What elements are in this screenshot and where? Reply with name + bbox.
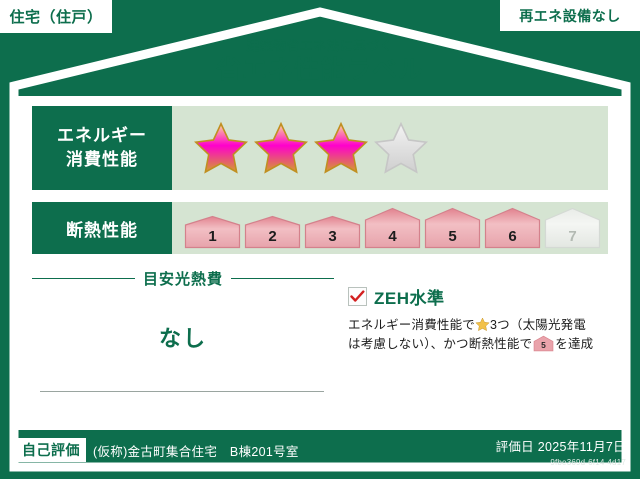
inline-house-icon: 5 [533, 335, 554, 352]
housing-type-badge: 住宅（住戸） [0, 0, 112, 33]
energy-label-line1: エネルギー [57, 124, 147, 148]
energy-performance-label: 住宅（住戸） 再エネ設備なし 建築物省エネ法に基づく 省エネ性能ラベル エネルギ… [0, 0, 640, 479]
label-card: エネルギー 消費性能 断熱性能 1234567 目安光熱費 [18, 96, 622, 430]
house-step-label: 7 [568, 228, 576, 245]
star-rating [192, 120, 430, 176]
cost-rule-right [231, 278, 334, 279]
house-step-label: 4 [388, 228, 397, 245]
utility-cost-value: なし [32, 321, 334, 353]
energy-performance-row: エネルギー 消費性能 [32, 106, 608, 190]
renewable-equipment-badge-label: 再エネ設備なし [519, 6, 621, 26]
title-main: 省エネ性能ラベル [0, 55, 640, 85]
insulation-performance-value: 1234567 [172, 202, 608, 254]
star-empty-icon [372, 120, 430, 176]
energy-performance-value [172, 106, 608, 190]
inline-house-value: 5 [541, 340, 546, 350]
check-icon [350, 290, 365, 303]
energy-performance-label: エネルギー 消費性能 [32, 106, 172, 190]
insulation-performance-row: 断熱性能 1234567 [32, 202, 608, 254]
zeh-checkbox[interactable] [348, 287, 367, 306]
renewable-equipment-badge: 再エネ設備なし [500, 0, 640, 31]
zeh-desc-part4: を達成 [555, 337, 593, 351]
zeh-description: エネルギー消費性能で3つ（太陽光発電は考慮しない）、かつ断熱性能で5を達成 [348, 316, 608, 354]
house-step-filled: 5 [424, 207, 481, 249]
house-step-filled: 6 [484, 207, 541, 249]
house-step-label: 1 [208, 228, 216, 245]
house-step-label: 5 [448, 228, 456, 245]
inline-star-icon [475, 317, 490, 332]
footer: 自己評価 (仮称)金古町集合住宅 B棟201号室 評価日 2025年11月7日 … [0, 432, 640, 479]
evaluation-date: 評価日 2025年11月7日 [496, 436, 626, 455]
house-step-empty: 7 [544, 207, 601, 249]
zeh-title: ZEH水準 [374, 284, 445, 309]
star-filled-icon [192, 120, 250, 176]
house-step-filled: 3 [304, 215, 361, 249]
cost-bottom-divider [40, 391, 324, 392]
house-step-label: 3 [328, 228, 336, 245]
document-id: 9fbe369d-6f14-4d17 [496, 458, 626, 467]
house-step-label: 6 [508, 228, 516, 245]
footer-right: 評価日 2025年11月7日 9fbe369d-6f14-4d17 [496, 436, 626, 467]
house-step-label: 2 [268, 228, 276, 245]
lower-section: 目安光熱費 なし ZEH水準 エネルギー消費性能で3つ（太陽光発電は考慮しな [32, 266, 608, 418]
utility-cost-heading: 目安光熱費 [32, 268, 334, 289]
energy-label-line2: 消費性能 [66, 148, 138, 172]
house-step-filled: 2 [244, 215, 301, 249]
project-name: (仮称)金古町集合住宅 B棟201号室 [93, 441, 299, 460]
house-rating-scale: 1234567 [184, 207, 601, 249]
utility-cost-heading-text: 目安光熱費 [143, 268, 223, 289]
insulation-performance-label: 断熱性能 [32, 202, 172, 254]
zeh-desc-part3: は考慮しない）、かつ断熱性能で [348, 337, 532, 351]
house-step-filled: 4 [364, 207, 421, 249]
self-evaluation-badge: 自己評価 [16, 438, 86, 462]
zeh-column: ZEH水準 エネルギー消費性能で3つ（太陽光発電は考慮しない）、かつ断熱性能で5… [334, 266, 608, 418]
zeh-desc-part1: エネルギー消費性能で [348, 318, 475, 332]
cost-rule-left [32, 278, 135, 279]
utility-cost-column: 目安光熱費 なし [32, 266, 334, 418]
footer-left: 自己評価 (仮称)金古町集合住宅 B棟201号室 [16, 438, 299, 462]
housing-type-badge-label: 住宅（住戸） [9, 6, 102, 27]
insulation-label-text: 断熱性能 [66, 216, 138, 241]
page-title: 建築物省エネ法に基づく 省エネ性能ラベル [0, 38, 640, 85]
title-subtitle: 建築物省エネ法に基づく [0, 38, 640, 54]
zeh-heading: ZEH水準 [348, 284, 608, 309]
star-filled-icon [252, 120, 310, 176]
star-filled-icon [312, 120, 370, 176]
house-step-filled: 1 [184, 215, 241, 249]
zeh-desc-part2: 3つ（太陽光発電 [490, 318, 586, 332]
